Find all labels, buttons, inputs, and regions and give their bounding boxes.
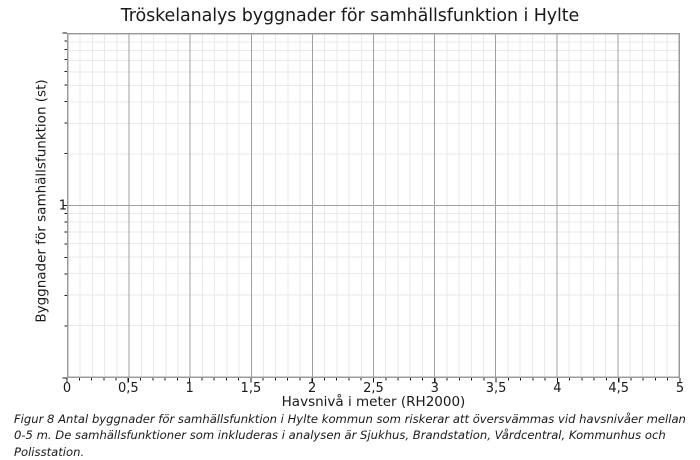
- x-tick-label: 2,5: [363, 381, 384, 396]
- x-tick-label: 0: [63, 381, 71, 396]
- x-axis-label: Havsnivå i meter (RH2000): [67, 394, 680, 410]
- plot-grid: [68, 34, 679, 377]
- plot-area: [67, 33, 680, 378]
- x-tick-label: 1: [185, 381, 193, 396]
- figure: Tröskelanalys byggnader för samhällsfunk…: [0, 0, 700, 459]
- y-axis-label: Byggnader för samhällsfunktion (st): [34, 29, 50, 374]
- x-tick-label: 3: [431, 381, 439, 396]
- x-tick-label: 1,5: [241, 381, 262, 396]
- chart-title: Tröskelanalys byggnader för samhällsfunk…: [0, 6, 700, 26]
- x-tick-label: 5: [676, 381, 684, 396]
- figure-caption: Figur 8 Antal byggnader för samhällsfunk…: [14, 411, 690, 460]
- x-tick-label: 3,5: [486, 381, 507, 396]
- x-tick-label: 2: [308, 381, 316, 396]
- x-tick-label: 4,5: [608, 381, 629, 396]
- y-tick-label: 1: [59, 198, 67, 213]
- x-tick-label: 4: [553, 381, 561, 396]
- x-tick-label: 0,5: [118, 381, 139, 396]
